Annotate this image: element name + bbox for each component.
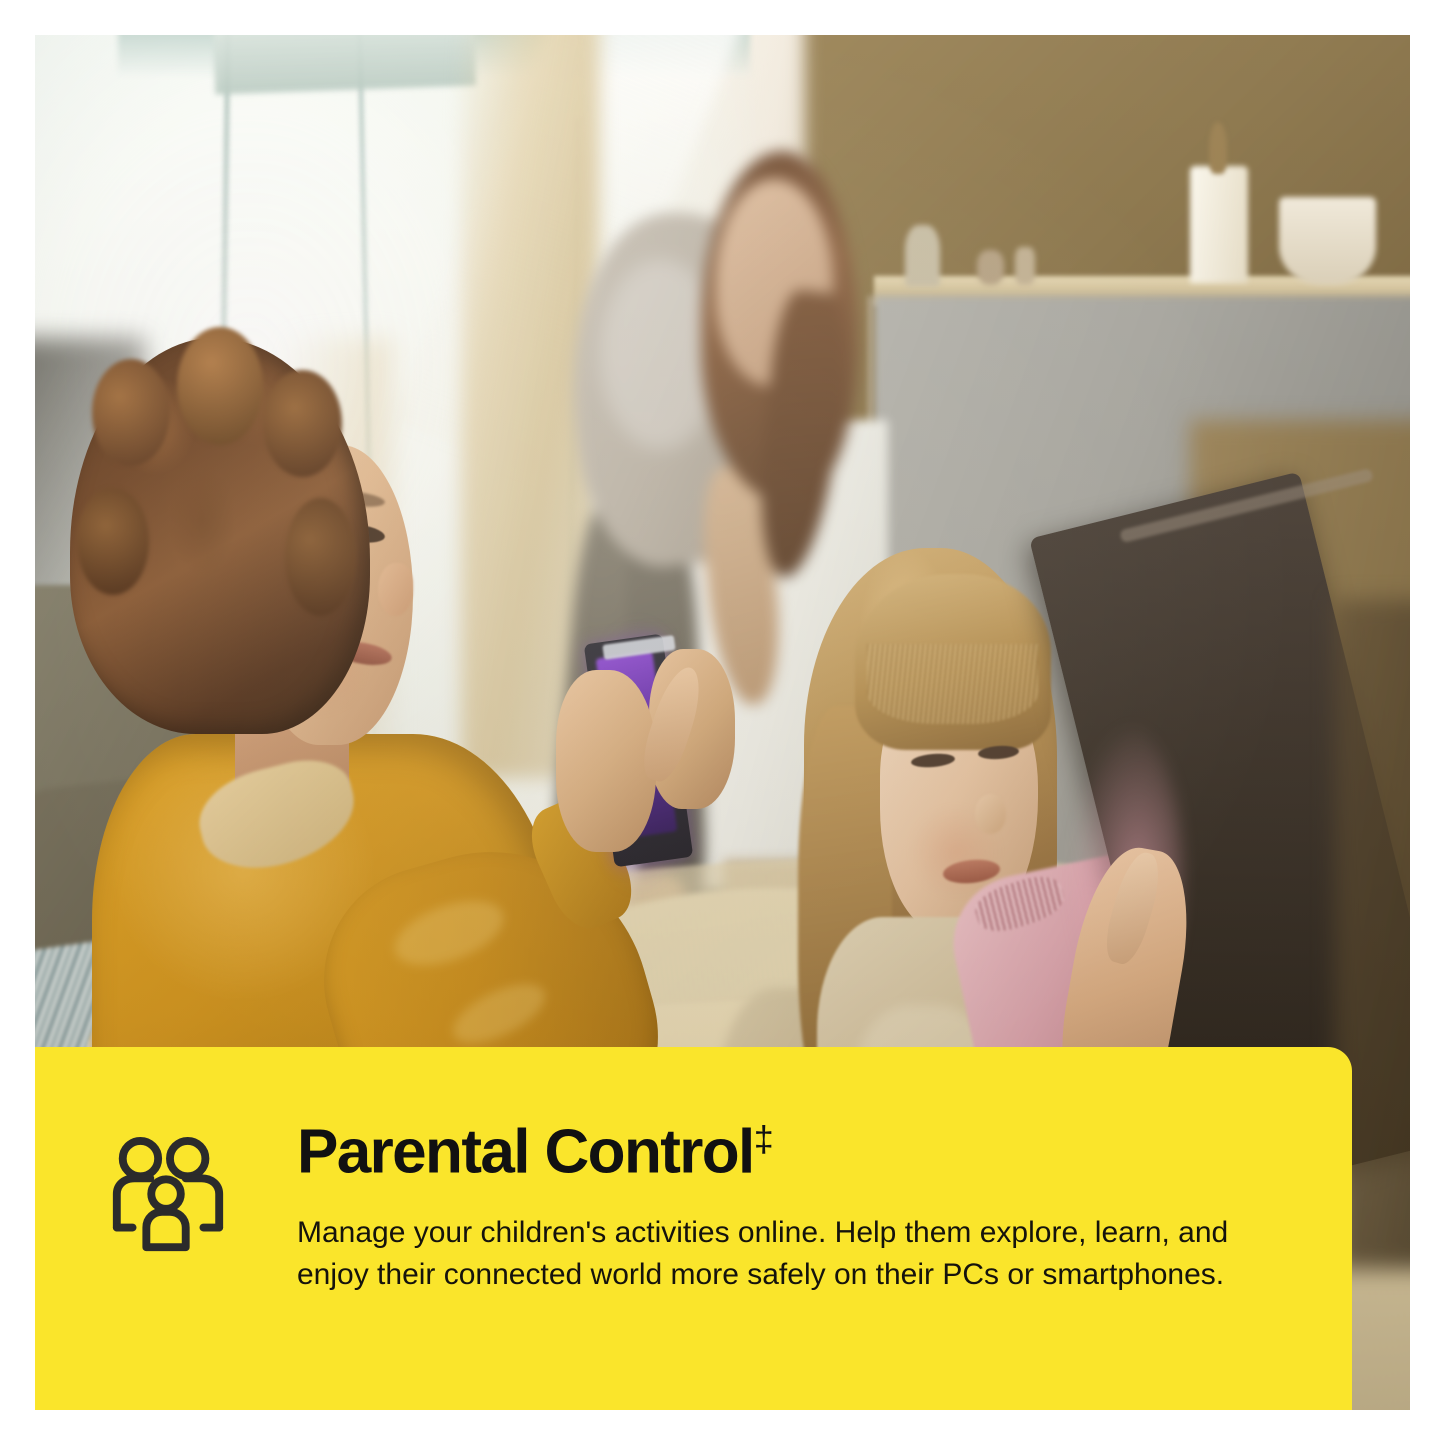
boy-hair-curl [285, 498, 357, 616]
parental-control-card: Parental Control‡ Manage your children's… [35, 1047, 1352, 1410]
paper-towel-roll [1190, 166, 1248, 283]
feature-card-screenshot: Parental Control‡ Manage your children's… [0, 0, 1445, 1445]
boy-hair-curl [77, 488, 149, 595]
page-title: Parental Control‡ [297, 1121, 1297, 1184]
girl-nose [975, 794, 1007, 834]
footnote-marker: ‡ [754, 1118, 774, 1159]
girl-bangs-strands [867, 644, 1038, 723]
paper-towel-knob [1209, 122, 1227, 174]
feature-title-label: Parental Control [297, 1118, 754, 1187]
ceiling-soffit [213, 35, 477, 95]
shelf-object [977, 250, 1005, 286]
feature-text-block: Parental Control‡ Manage your children's… [297, 1121, 1297, 1297]
boy-hair-curl [177, 327, 263, 445]
family-group-icon [105, 1133, 231, 1259]
boy-hand [556, 670, 656, 852]
shelf-object [1015, 247, 1034, 286]
ceramic-bowl [1279, 197, 1375, 285]
boy-hair-curl [263, 370, 342, 477]
feature-description: Manage your children's activities online… [297, 1212, 1252, 1297]
boy-hair-curl [92, 359, 171, 466]
